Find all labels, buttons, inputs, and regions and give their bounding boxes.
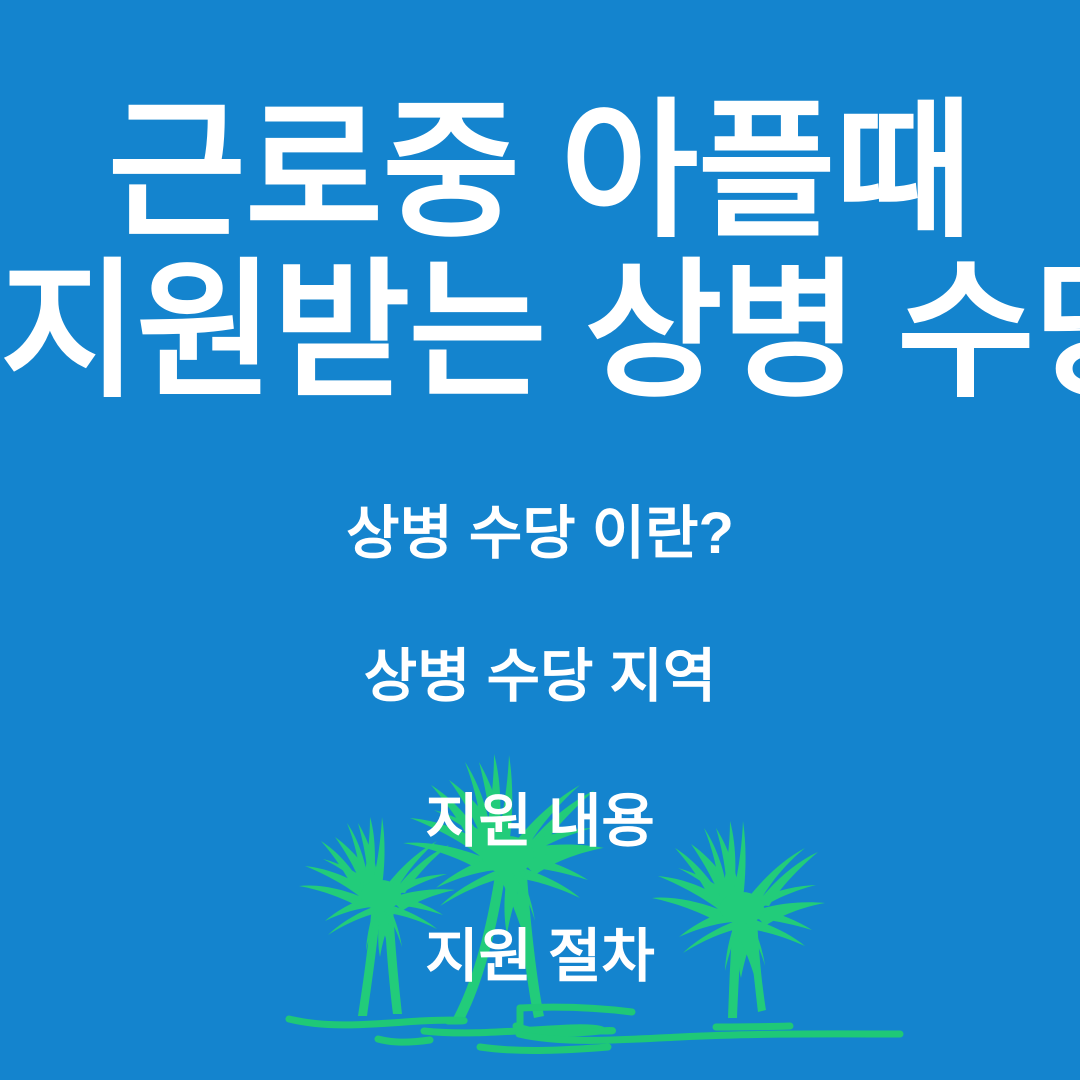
subhead-support-details: 지원 내용 [0, 793, 1080, 851]
headline-line-1: 근로중 아플때 [0, 96, 1080, 246]
text-content-layer: 근로중 아플때 지원받는 상병 수당 상병 수당 이란? 상병 수당 지역 지원… [0, 0, 1080, 1080]
subhead-what-is-sick-pay: 상병 수당 이란? [0, 505, 1080, 563]
headline-line-2: 지원받는 상병 수당 [0, 256, 1080, 406]
subhead-application-process: 지원 절차 [0, 928, 1080, 986]
poster-canvas: 근로중 아플때 지원받는 상병 수당 상병 수당 이란? 상병 수당 지역 지원… [0, 0, 1080, 1080]
subhead-regions: 상병 수당 지역 [0, 648, 1080, 706]
